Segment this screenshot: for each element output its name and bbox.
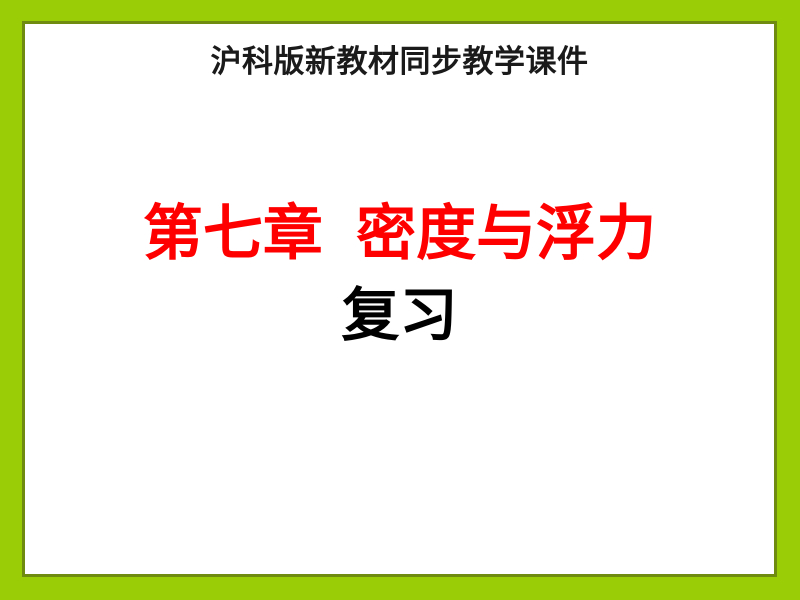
slide-border-left	[0, 0, 22, 600]
presentation-slide: 沪科版新教材同步教学课件 第七章 密度与浮力 复习	[0, 0, 800, 600]
slide-title-review: 复习	[25, 280, 774, 352]
slide-subtitle: 沪科版新教材同步教学课件	[25, 43, 774, 81]
slide-border-bevel-bottom	[22, 574, 777, 577]
slide-border-right	[777, 0, 800, 600]
slide-title-chapter: 第七章 密度与浮力	[25, 197, 774, 271]
slide-border-bevel-right	[774, 21, 777, 577]
slide-border-top	[0, 0, 800, 21]
slide-border-bottom	[0, 577, 800, 600]
slide-content-area: 沪科版新教材同步教学课件 第七章 密度与浮力 复习	[25, 24, 774, 574]
